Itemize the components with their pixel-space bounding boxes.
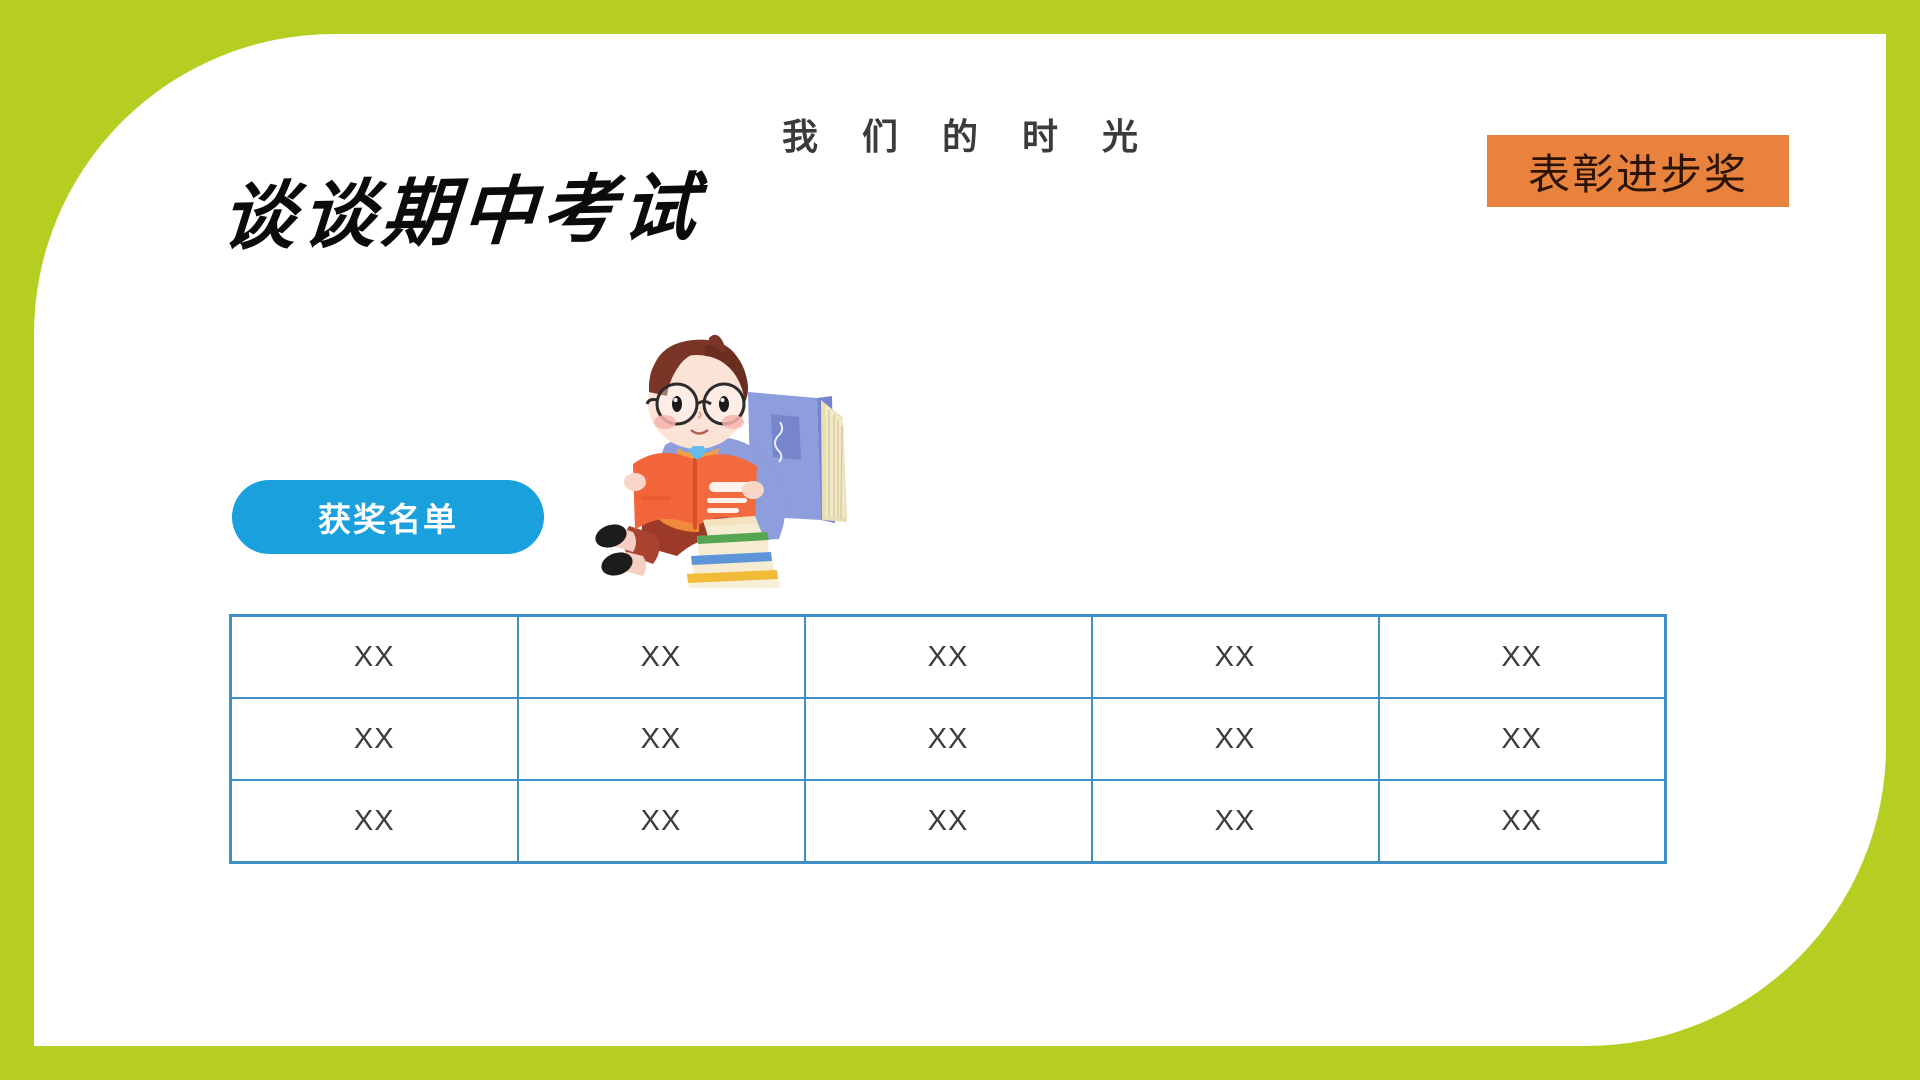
table-cell[interactable]: XX [518, 780, 805, 863]
winners-list-button-label: 获奖名单 [318, 493, 458, 541]
table-cell[interactable]: XX [1379, 698, 1666, 780]
status-badge-label: 表彰进步奖 [1528, 141, 1748, 202]
table-row: XX XX XX XX XX [231, 698, 1666, 780]
table-cell[interactable]: XX [518, 616, 805, 699]
table-row: XX XX XX XX XX [231, 780, 1666, 863]
status-badge: 表彰进步奖 [1487, 135, 1789, 207]
table-cell[interactable]: XX [1092, 780, 1379, 863]
table-cell[interactable]: XX [1379, 616, 1666, 699]
table-cell[interactable]: XX [1379, 780, 1666, 863]
table-cell[interactable]: XX [1092, 698, 1379, 780]
winners-table-body: XX XX XX XX XX XX XX XX XX XX XX XX XX X… [231, 616, 1666, 863]
boy-reading-illustration [585, 330, 875, 588]
winners-list-button[interactable]: 获奖名单 [232, 480, 544, 554]
table-cell[interactable]: XX [231, 616, 518, 699]
table-cell[interactable]: XX [1092, 616, 1379, 699]
table-cell[interactable]: XX [805, 780, 1092, 863]
table-cell[interactable]: XX [805, 616, 1092, 699]
table-cell[interactable]: XX [805, 698, 1092, 780]
slide-root: 我 们 的 时 光 谈谈期中考试 表彰进步奖 获奖名单 [0, 0, 1920, 1080]
table-row: XX XX XX XX XX [231, 616, 1666, 699]
table-cell[interactable]: XX [518, 698, 805, 780]
page-title: 谈谈期中考试 [218, 148, 706, 265]
table-cell[interactable]: XX [231, 780, 518, 863]
table-cell[interactable]: XX [231, 698, 518, 780]
winners-table: XX XX XX XX XX XX XX XX XX XX XX XX XX X… [229, 614, 1667, 864]
